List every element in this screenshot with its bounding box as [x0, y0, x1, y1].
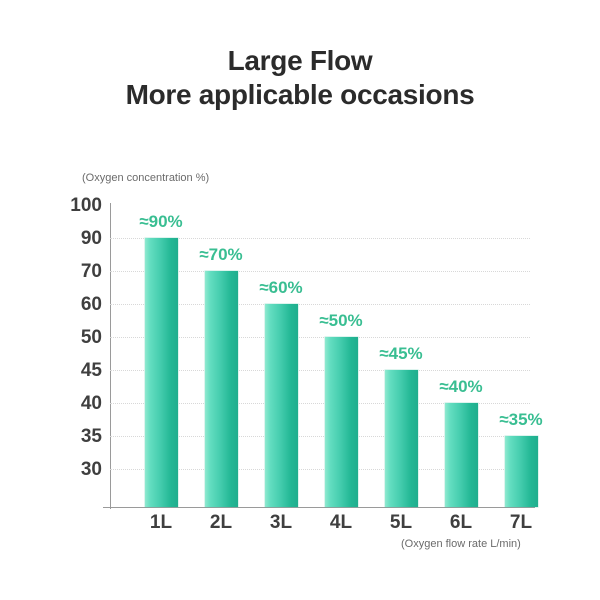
x-axis-tick-label: 2L [191, 512, 251, 534]
bar-value-label: ≈35% [491, 411, 551, 428]
y-axis-tick-label: 30 [58, 460, 102, 479]
y-axis-tick-label: 60 [58, 295, 102, 314]
oxygen-concentration-bar-chart: (Oxygen concentration %) 100907060504540… [0, 0, 600, 600]
y-axis-caption: (Oxygen concentration %) [82, 172, 209, 184]
x-axis-tick-label: 1L [131, 512, 191, 534]
x-axis-tick-label: 3L [251, 512, 311, 534]
bar [445, 403, 478, 507]
x-axis-tick-label: 6L [431, 512, 491, 534]
bar [385, 370, 418, 507]
y-axis-tick-label: 100 [58, 196, 102, 215]
x-axis-caption: (Oxygen flow rate L/min) [401, 538, 521, 550]
y-axis-tick-label: 90 [58, 229, 102, 248]
y-axis-tick-label: 40 [58, 394, 102, 413]
bar-value-label: ≈40% [431, 378, 491, 395]
bar-value-label: ≈45% [371, 345, 431, 362]
x-axis-tick-label: 7L [491, 512, 551, 534]
y-axis-tick-label: 45 [58, 361, 102, 380]
y-axis-tick-label: 35 [58, 427, 102, 446]
y-axis-tick-label: 50 [58, 328, 102, 347]
bar-value-label: ≈90% [131, 213, 191, 230]
y-axis-tick-label: 70 [58, 262, 102, 281]
bar [205, 271, 238, 507]
bar [265, 304, 298, 507]
bar-value-label: ≈70% [191, 246, 251, 263]
bar [325, 337, 358, 507]
x-axis-tick-label: 5L [371, 512, 431, 534]
plot-area [110, 205, 530, 507]
x-axis-line [103, 507, 535, 508]
bar-value-label: ≈50% [311, 312, 371, 329]
bar-value-label: ≈60% [251, 279, 311, 296]
x-axis-tick-label: 4L [311, 512, 371, 534]
bar [145, 238, 178, 507]
bar [505, 436, 538, 507]
